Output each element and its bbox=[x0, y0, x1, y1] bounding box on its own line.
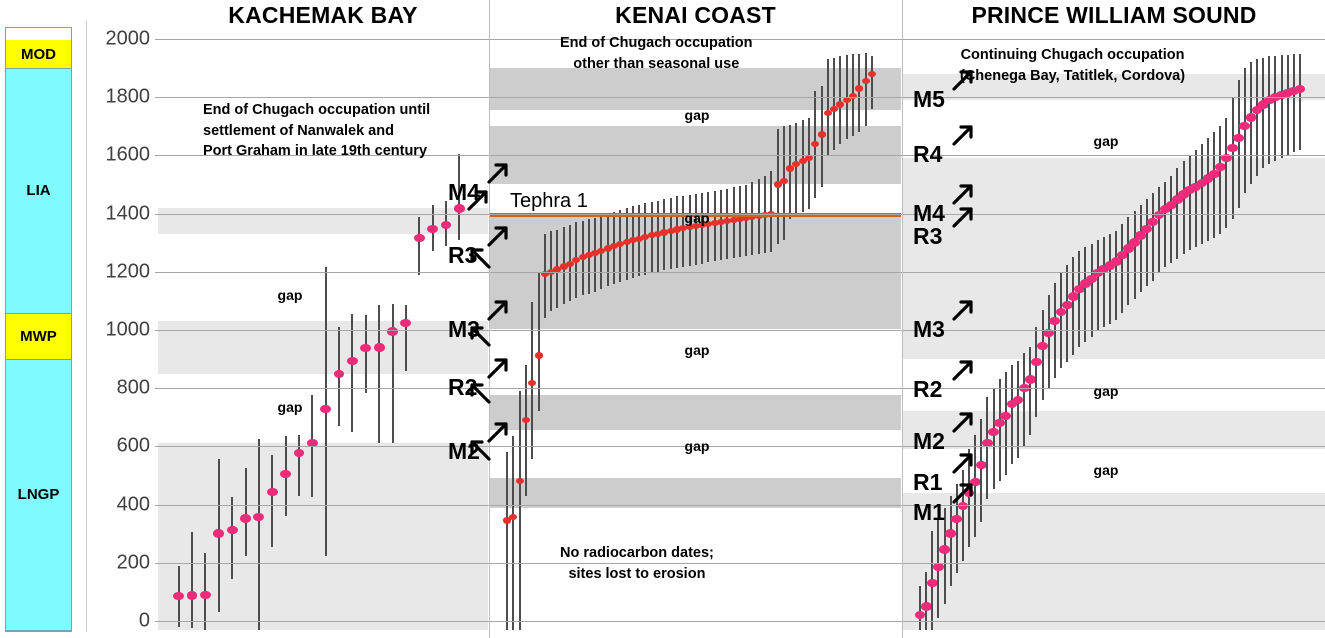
panel-title-kachemak-bay: KACHEMAK BAY bbox=[158, 2, 488, 29]
climate-segment-label: LIA bbox=[26, 182, 50, 199]
gap-label: gap bbox=[685, 438, 710, 454]
error-bar bbox=[802, 120, 804, 212]
y-tick-label: 1800 bbox=[90, 86, 150, 109]
error-bar bbox=[1017, 361, 1019, 458]
data-point bbox=[933, 563, 944, 571]
marker-label-m2: M2 bbox=[913, 428, 945, 455]
gridline bbox=[155, 563, 1325, 564]
y-tick-label: 2000 bbox=[90, 28, 150, 51]
error-bar bbox=[519, 391, 521, 630]
pointer-arrow bbox=[951, 356, 977, 387]
error-bar bbox=[1158, 187, 1160, 273]
chronology-chart: MODLIAMWPLNGP 02004006008001000120014001… bbox=[0, 0, 1325, 638]
marker-label-m5: M5 bbox=[913, 86, 945, 113]
climate-period-bar: MODLIAMWPLNGP bbox=[5, 27, 72, 632]
error-bar bbox=[1274, 56, 1276, 161]
error-bar bbox=[1287, 55, 1289, 156]
y-tick-label: 1200 bbox=[90, 260, 150, 283]
occupation-band bbox=[158, 208, 488, 234]
data-point bbox=[1037, 342, 1048, 350]
data-point bbox=[1000, 412, 1011, 420]
error-bar bbox=[1023, 353, 1025, 446]
pointer-arrow bbox=[466, 379, 492, 410]
error-bar bbox=[1189, 155, 1191, 250]
error-bar bbox=[1281, 55, 1283, 158]
gridline bbox=[155, 388, 1325, 389]
data-point bbox=[334, 370, 345, 378]
gap-label: gap bbox=[685, 107, 710, 123]
y-tick-label: 400 bbox=[90, 493, 150, 516]
error-bar bbox=[1207, 138, 1209, 241]
gridline bbox=[155, 214, 1325, 215]
y-tick-label: 800 bbox=[90, 377, 150, 400]
y-tick-label: 0 bbox=[90, 610, 150, 633]
climate-segment-lia: LIA bbox=[6, 69, 71, 313]
gap-label: gap bbox=[278, 287, 303, 303]
data-point bbox=[200, 591, 211, 599]
error-bar bbox=[1238, 80, 1240, 208]
error-bar bbox=[392, 304, 394, 444]
data-point bbox=[1062, 301, 1073, 309]
error-bar bbox=[1011, 365, 1013, 464]
data-point bbox=[1129, 238, 1140, 246]
data-point bbox=[868, 71, 876, 77]
data-point bbox=[427, 225, 438, 233]
data-point bbox=[855, 85, 863, 91]
gridline bbox=[155, 621, 1325, 622]
error-bar bbox=[980, 419, 982, 522]
error-bar bbox=[1146, 199, 1148, 286]
pointer-arrow bbox=[951, 479, 977, 510]
pointer-arrow bbox=[466, 186, 492, 217]
data-point bbox=[1227, 144, 1238, 152]
climate-segment-label: MWP bbox=[20, 328, 57, 345]
climate-segment-mwp: MWP bbox=[6, 314, 71, 361]
panel-title-prince-william-sound: PRINCE WILLIAM SOUND bbox=[903, 2, 1325, 29]
pointer-arrow bbox=[951, 121, 977, 152]
pointer-arrow bbox=[951, 449, 977, 480]
data-point bbox=[280, 470, 291, 478]
data-point bbox=[836, 101, 844, 107]
data-point bbox=[1068, 292, 1079, 300]
gridline bbox=[155, 505, 1325, 506]
occupation-band bbox=[490, 395, 901, 430]
error-bar bbox=[827, 59, 829, 155]
gap-label: gap bbox=[1094, 383, 1119, 399]
data-point bbox=[535, 352, 543, 358]
data-point bbox=[945, 529, 956, 537]
data-point bbox=[1215, 163, 1226, 171]
error-bar bbox=[378, 305, 380, 443]
error-bar bbox=[1225, 118, 1227, 229]
data-point bbox=[1246, 113, 1257, 121]
error-bar bbox=[833, 58, 835, 150]
error-bar bbox=[714, 191, 716, 261]
data-point bbox=[1239, 122, 1250, 130]
error-bar bbox=[808, 118, 810, 210]
error-bar bbox=[405, 305, 407, 370]
error-bar bbox=[720, 190, 722, 260]
plot-area: Tephra 1KACHEMAK BAYKENAI COASTPRINCE WI… bbox=[155, 0, 1325, 638]
marker-label-r3: R3 bbox=[913, 223, 942, 250]
data-point bbox=[988, 428, 999, 436]
error-bar bbox=[1213, 132, 1215, 238]
pointer-arrow bbox=[951, 66, 977, 97]
data-point bbox=[811, 141, 819, 147]
pointer-arrow bbox=[466, 436, 492, 467]
panel-title-kenai-coast: KENAI COAST bbox=[490, 2, 901, 29]
error-bar bbox=[1109, 234, 1111, 324]
annotation-note: Continuing Chugach occupation (Chenega B… bbox=[960, 45, 1185, 86]
marker-label-r2: R2 bbox=[913, 376, 942, 403]
data-point bbox=[267, 488, 278, 496]
error-bar bbox=[1066, 265, 1068, 362]
error-bar bbox=[1244, 68, 1246, 193]
data-point bbox=[1209, 170, 1220, 178]
climate-segment-mod: MOD bbox=[6, 40, 71, 69]
error-bar bbox=[1164, 182, 1166, 268]
data-point bbox=[939, 545, 950, 553]
error-bar bbox=[298, 435, 300, 496]
pointer-arrow bbox=[951, 203, 977, 234]
data-point bbox=[780, 178, 788, 184]
error-bar bbox=[1103, 237, 1105, 327]
error-bar bbox=[1091, 244, 1093, 337]
error-bar bbox=[191, 532, 193, 628]
data-point bbox=[927, 579, 938, 587]
error-bar bbox=[1152, 193, 1154, 280]
gap-label: gap bbox=[1094, 133, 1119, 149]
climate-segment-label: LNGP bbox=[18, 486, 60, 503]
data-point bbox=[976, 461, 987, 469]
error-bar bbox=[1084, 247, 1086, 342]
panel-kachemak-bay bbox=[158, 0, 488, 638]
annotation-note: End of Chugach occupation other than sea… bbox=[560, 33, 753, 74]
data-point bbox=[240, 514, 251, 522]
data-point bbox=[528, 380, 536, 386]
annotation-note: No radiocarbon dates; sites lost to eros… bbox=[560, 543, 714, 584]
y-tick-label: 1000 bbox=[90, 319, 150, 342]
gap-label: gap bbox=[685, 210, 710, 226]
error-bar bbox=[1035, 327, 1037, 417]
data-point bbox=[516, 478, 524, 484]
error-bar bbox=[1262, 58, 1264, 169]
tephra-label: Tephra 1 bbox=[510, 190, 588, 213]
marker-label-m3: M3 bbox=[913, 316, 945, 343]
pointer-arrow bbox=[951, 408, 977, 439]
error-bar bbox=[506, 452, 508, 630]
data-point bbox=[253, 513, 264, 521]
data-point bbox=[213, 529, 224, 537]
annotation-note: End of Chugach occupation until settleme… bbox=[203, 100, 430, 162]
marker-label-m1: M1 bbox=[913, 499, 945, 526]
error-bar bbox=[245, 468, 247, 555]
error-bar bbox=[865, 53, 867, 126]
pointer-arrow bbox=[951, 296, 977, 327]
data-point bbox=[227, 526, 238, 534]
error-bar bbox=[1078, 251, 1080, 347]
marker-label-r1: R1 bbox=[913, 469, 942, 496]
occupation-band bbox=[490, 478, 901, 507]
climate-segment-label: MOD bbox=[21, 46, 56, 63]
error-bar bbox=[682, 196, 684, 268]
data-point bbox=[374, 343, 385, 351]
data-point bbox=[347, 357, 358, 365]
error-bar bbox=[695, 194, 697, 265]
error-bar bbox=[707, 192, 709, 263]
data-point bbox=[862, 78, 870, 84]
gap-label: gap bbox=[1094, 462, 1119, 478]
gap-label: gap bbox=[278, 399, 303, 415]
data-point bbox=[921, 602, 932, 610]
occupation-band bbox=[903, 493, 1325, 630]
pointer-arrow bbox=[466, 244, 492, 275]
data-point bbox=[400, 319, 411, 327]
error-bar bbox=[1140, 205, 1142, 292]
occupation-band bbox=[158, 443, 488, 629]
gridline bbox=[155, 330, 1325, 331]
error-bar bbox=[351, 314, 353, 432]
error-bar bbox=[538, 273, 540, 411]
data-point bbox=[414, 234, 425, 242]
data-point bbox=[818, 131, 826, 137]
error-bar bbox=[1256, 59, 1258, 175]
error-bar bbox=[858, 54, 860, 133]
error-bar bbox=[1042, 310, 1044, 400]
error-bar bbox=[418, 217, 420, 275]
error-bar bbox=[1219, 126, 1221, 234]
data-point bbox=[294, 449, 305, 457]
error-bar bbox=[1127, 217, 1129, 306]
error-bar bbox=[701, 193, 703, 264]
data-point bbox=[387, 327, 398, 335]
error-bar bbox=[795, 123, 797, 215]
error-bar bbox=[839, 56, 841, 143]
y-axis: 0200400600800100012001400160018002000 bbox=[90, 0, 150, 638]
error-bar bbox=[986, 397, 988, 499]
error-bar bbox=[1048, 295, 1050, 388]
error-bar bbox=[1183, 161, 1185, 254]
y-tick-label: 1600 bbox=[90, 144, 150, 167]
y-tick-label: 600 bbox=[90, 435, 150, 458]
error-bar bbox=[231, 497, 233, 578]
error-bar bbox=[1201, 144, 1203, 244]
data-point bbox=[187, 591, 198, 599]
y-tick-label: 200 bbox=[90, 551, 150, 574]
error-bar bbox=[1299, 54, 1301, 150]
error-bar bbox=[1195, 150, 1197, 247]
error-bar bbox=[1115, 231, 1117, 320]
error-bar bbox=[993, 388, 995, 488]
error-bar bbox=[271, 455, 273, 547]
y-tick-label: 1400 bbox=[90, 202, 150, 225]
data-point bbox=[320, 405, 331, 413]
data-point bbox=[1013, 396, 1024, 404]
panel-divider bbox=[86, 20, 87, 632]
error-bar bbox=[999, 379, 1001, 481]
gap-label: gap bbox=[685, 342, 710, 358]
gridline bbox=[155, 446, 1325, 447]
error-bar bbox=[258, 439, 260, 630]
error-bar bbox=[525, 365, 527, 496]
panel-separator bbox=[902, 0, 903, 638]
error-bar bbox=[871, 56, 873, 108]
data-point bbox=[1233, 134, 1244, 142]
error-bar bbox=[1232, 97, 1234, 219]
data-point bbox=[509, 514, 517, 520]
error-bar bbox=[1293, 54, 1295, 152]
marker-label-r4: R4 bbox=[913, 141, 942, 168]
data-point bbox=[1025, 375, 1036, 383]
gridline bbox=[155, 272, 1325, 273]
error-bar bbox=[1097, 240, 1099, 332]
error-bar bbox=[1250, 62, 1252, 184]
error-bar bbox=[1121, 224, 1123, 313]
error-bar bbox=[365, 315, 367, 392]
error-bar bbox=[689, 195, 691, 266]
error-bar bbox=[1060, 272, 1062, 368]
climate-segment-lngp: LNGP bbox=[6, 360, 71, 631]
error-bar bbox=[1268, 56, 1270, 164]
error-bar bbox=[789, 125, 791, 220]
data-point bbox=[1031, 358, 1042, 366]
gridline bbox=[155, 97, 1325, 98]
pointer-arrow bbox=[466, 322, 492, 353]
error-bar bbox=[512, 436, 514, 630]
error-bar bbox=[1170, 176, 1172, 263]
error-bar bbox=[1134, 211, 1136, 300]
